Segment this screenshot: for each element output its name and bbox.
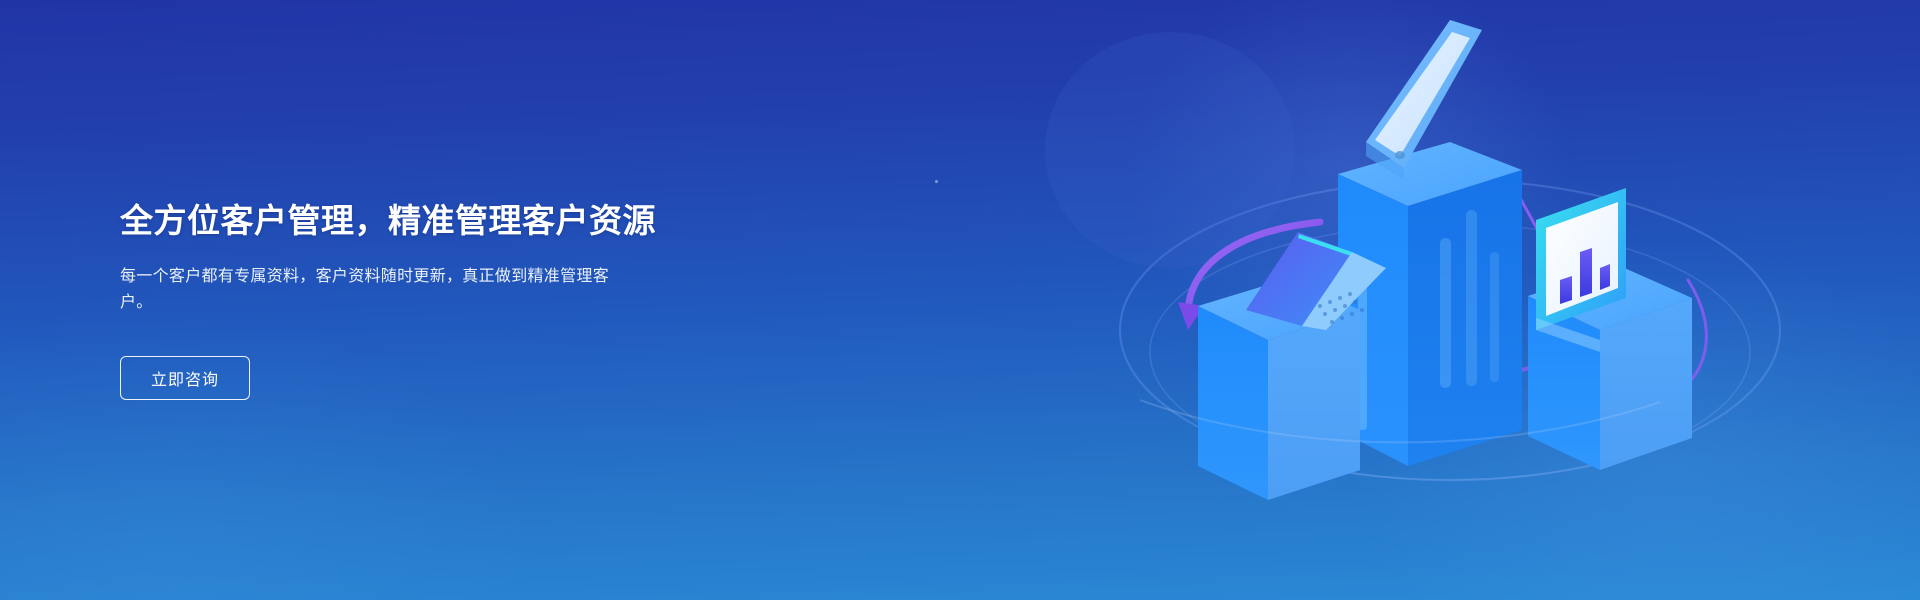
hero-illustration bbox=[1020, 0, 1920, 600]
hero-banner: 全方位客户管理，精准管理客户资源 每一个客户都有专属资料，客户资料随时更新，真正… bbox=[0, 0, 1920, 600]
cta-container: 立即咨询 bbox=[120, 356, 740, 400]
hero-subtitle: 每一个客户都有专属资料，客户资料随时更新，真正做到精准管理客户。 bbox=[120, 264, 610, 316]
page-title: 全方位客户管理，精准管理客户资源 bbox=[120, 200, 740, 242]
speck-dot bbox=[935, 180, 938, 183]
consult-now-button[interactable]: 立即咨询 bbox=[120, 356, 250, 400]
tall-podium bbox=[1338, 142, 1522, 466]
hero-content: 全方位客户管理，精准管理客户资源 每一个客户都有专属资料，客户资料随时更新，真正… bbox=[120, 0, 740, 600]
